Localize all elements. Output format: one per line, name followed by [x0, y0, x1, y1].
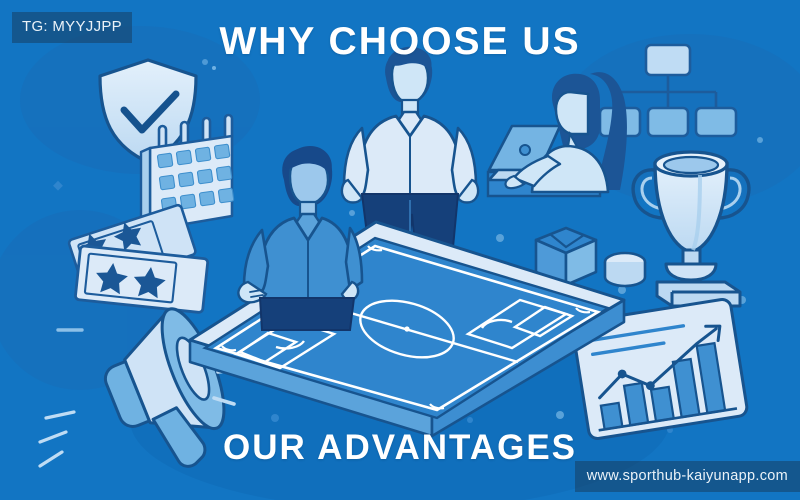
- watermark-telegram-tag: TG: MYYJJPP: [12, 12, 132, 43]
- watermark-site-url: www.sporthub-kaiyunapp.com: [575, 461, 800, 492]
- poster-canvas: WHY CHOOSE US OUR ADVANTAGES TG: MYYJJPP…: [0, 0, 800, 500]
- illustration-artwork: [0, 0, 800, 500]
- man-light-shirt-figure: [342, 47, 478, 258]
